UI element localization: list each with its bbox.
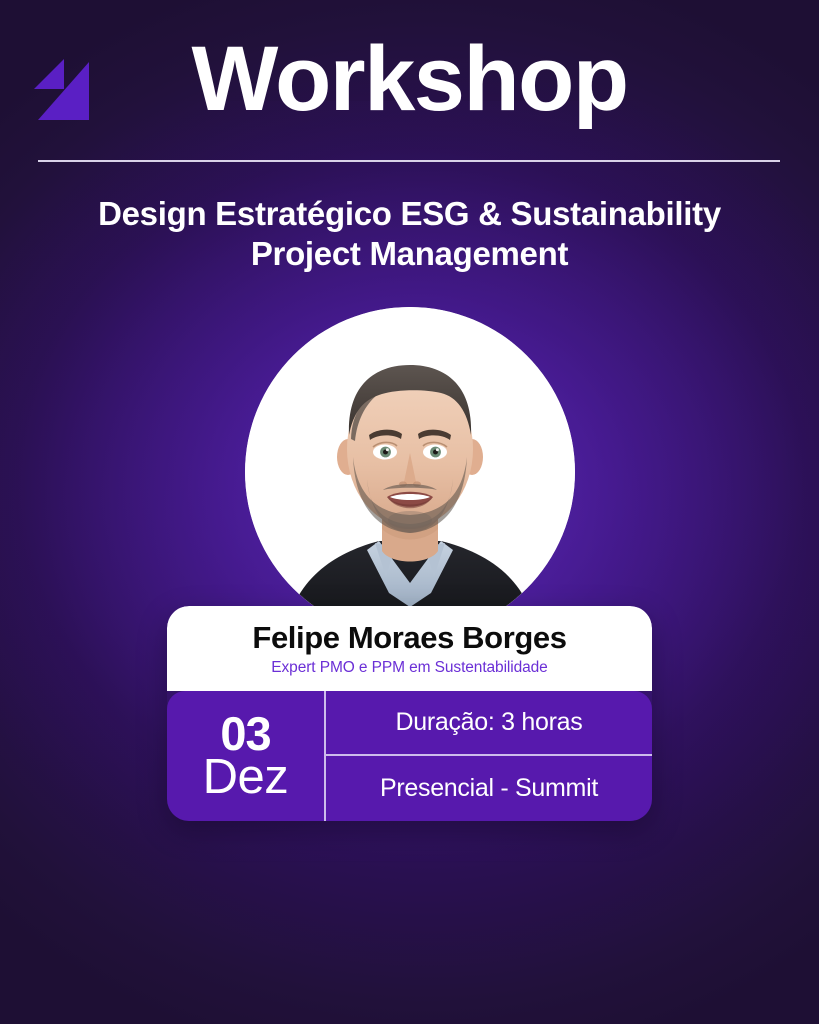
- header-divider: [38, 160, 780, 162]
- event-date-day: 03: [220, 712, 270, 755]
- speaker-name: Felipe Moraes Borges: [185, 620, 634, 656]
- event-date: 03 Dez: [167, 691, 326, 821]
- speaker-info-card: Felipe Moraes Borges Expert PMO e PPM em…: [167, 606, 652, 821]
- page-title: Workshop: [0, 33, 819, 125]
- event-duration: Duração: 3 horas: [326, 691, 652, 756]
- subtitle-line-2: Project Management: [40, 234, 779, 274]
- event-date-month: Dez: [203, 753, 289, 802]
- speaker-role: Expert PMO e PPM em Sustentabilidade: [185, 659, 634, 677]
- workshop-poster: Workshop Design Estratégico ESG & Sustai…: [0, 0, 819, 1024]
- speaker-name-block: Felipe Moraes Borges Expert PMO e PPM em…: [167, 606, 652, 691]
- event-details-block: 03 Dez Duração: 3 horas Presencial - Sum…: [167, 691, 652, 821]
- subtitle-line-1: Design Estratégico ESG & Sustainability: [40, 194, 779, 234]
- event-detail-column: Duração: 3 horas Presencial - Summit: [326, 691, 652, 821]
- workshop-subtitle: Design Estratégico ESG & Sustainability …: [40, 194, 779, 273]
- speaker-portrait: [245, 307, 575, 637]
- poster-header: Workshop: [0, 0, 819, 170]
- event-format: Presencial - Summit: [326, 756, 652, 821]
